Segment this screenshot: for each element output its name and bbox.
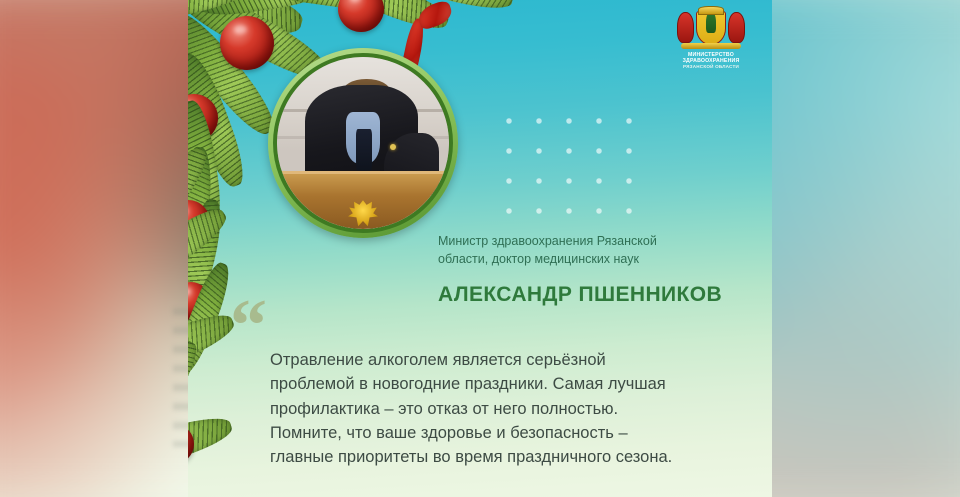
logo-line-3: РЯЗАНСКОЙ ОБЛАСТИ xyxy=(668,64,754,69)
red-ornament-ball xyxy=(188,282,210,320)
holiday-announcement-card: МИНИСТЕРСТВО ЗДРАВООХРАНЕНИЯ РЯЗАНСКОЙ О… xyxy=(188,0,772,497)
red-ribbon xyxy=(415,0,454,31)
quote-mark-icon: “ xyxy=(230,300,267,353)
photo-lapel-pin xyxy=(390,144,396,150)
screenshot-canvas: МИНИСТЕРСТВО ЗДРАВООХРАНЕНИЯ РЯЗАНСКОЙ О… xyxy=(0,0,960,497)
red-ornament-ball xyxy=(188,94,218,142)
minister-photo xyxy=(277,57,449,229)
person-name: АЛЕКСАНДР ПШЕННИКОВ xyxy=(438,283,722,307)
red-ornament-ball xyxy=(338,0,384,32)
podium-emblem-icon xyxy=(348,200,378,226)
ryazan-coat-of-arms-icon xyxy=(675,6,747,50)
red-ornament-ball xyxy=(188,200,210,244)
quote-text: Отравление алкоголем является серьёзной … xyxy=(270,348,688,469)
ministry-logo: МИНИСТЕРСТВО ЗДРАВООХРАНЕНИЯ РЯЗАНСКОЙ О… xyxy=(668,6,754,70)
red-ornament-ball xyxy=(188,424,194,464)
photo-podium xyxy=(277,171,449,229)
portrait-circle xyxy=(268,48,458,238)
red-ornament-ball xyxy=(220,16,274,70)
ministry-logo-text: МИНИСТЕРСТВО ЗДРАВООХРАНЕНИЯ РЯЗАНСКОЙ О… xyxy=(668,52,754,70)
minister-title: Министр здравоохранения Рязанской област… xyxy=(438,233,708,269)
dot-grid-pattern xyxy=(490,100,642,220)
